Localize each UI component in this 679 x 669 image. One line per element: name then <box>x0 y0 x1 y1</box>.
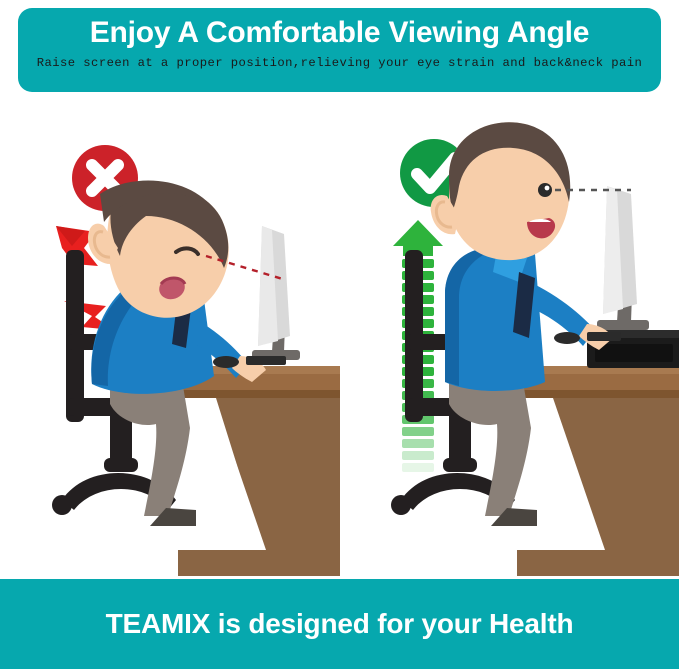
desk-foot-shelf <box>517 550 605 576</box>
header-subtitle: Raise screen at a proper position,reliev… <box>18 53 661 73</box>
illustration-area <box>0 98 679 576</box>
infographic-page: Enjoy A Comfortable Viewing Angle Raise … <box>0 0 679 669</box>
footer-banner: TEAMIX is designed for your Health <box>0 579 679 669</box>
header-title: Enjoy A Comfortable Viewing Angle <box>18 13 661 53</box>
footer-title: TEAMIX is designed for your Health <box>106 608 574 640</box>
desk-foot-shelf <box>178 550 266 576</box>
panel-bad-posture <box>0 98 340 576</box>
panel-good-posture <box>339 98 679 576</box>
monitor-low <box>252 226 300 360</box>
monitor-raised <box>597 186 649 330</box>
header-banner: Enjoy A Comfortable Viewing Angle Raise … <box>18 8 661 92</box>
